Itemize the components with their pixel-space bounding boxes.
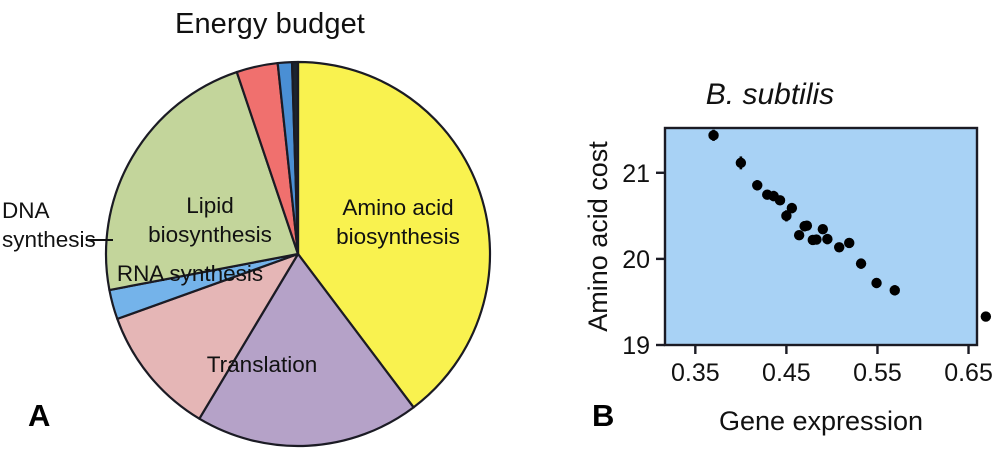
- data-point-18: [871, 278, 881, 288]
- scatter-plot-background: [665, 128, 977, 345]
- dna-callout-line2: synthesis: [2, 225, 110, 254]
- pie-slice-group: [106, 62, 490, 446]
- scatter-plot-area: [665, 128, 977, 345]
- data-point-14: [822, 234, 832, 244]
- data-point-19: [890, 285, 900, 295]
- y-axis-title: Amino acid cost: [583, 141, 613, 332]
- data-point-15: [834, 242, 844, 252]
- x-tick-label-3: 0.65: [944, 359, 993, 387]
- dna-synthesis-callout-label: DNA synthesis: [2, 196, 110, 254]
- data-point-2: [752, 180, 762, 190]
- y-tick-label-0: 19: [622, 332, 650, 360]
- x-tick-label-1: 0.45: [762, 359, 811, 387]
- pie-label-rna-synthesis: RNA synthesis: [117, 261, 263, 286]
- panel-a: Energy budget Amino acidbiosynthesisTran…: [0, 0, 540, 459]
- figure-root: Energy budget Amino acidbiosynthesisTran…: [0, 0, 1000, 459]
- data-point-5: [775, 195, 785, 205]
- x-tick-label-2: 0.55: [853, 359, 902, 387]
- panel-b: B. subtilis 0.350.450.550.65192021 Gene …: [540, 0, 1000, 459]
- data-point-13: [818, 224, 828, 234]
- data-point-0: [708, 130, 718, 140]
- y-tick-label-2: 21: [622, 160, 650, 188]
- panel-a-letter: A: [28, 398, 50, 434]
- scatter-chart-svg: 0.350.450.550.65192021 Gene expressionAm…: [540, 0, 1000, 459]
- data-point-17: [856, 258, 866, 268]
- data-point-20: [981, 311, 991, 321]
- data-point-16: [844, 238, 854, 248]
- panel-b-letter: B: [592, 398, 614, 434]
- data-point-7: [787, 203, 797, 213]
- y-tick-label-1: 20: [622, 246, 650, 274]
- data-point-10: [802, 221, 812, 231]
- dna-callout-line1: DNA: [2, 196, 110, 225]
- data-point-8: [794, 230, 804, 240]
- x-axis-title: Gene expression: [719, 406, 923, 436]
- data-point-12: [811, 234, 821, 244]
- pie-label-translation: Translation: [207, 352, 317, 377]
- data-point-1: [736, 158, 746, 168]
- x-tick-label-0: 0.35: [671, 359, 720, 387]
